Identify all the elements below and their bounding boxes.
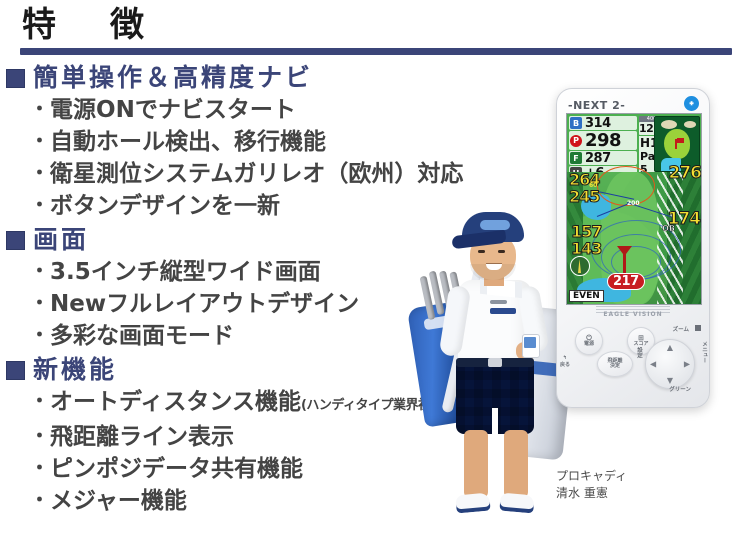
page-title: 特 徴 [22,4,154,46]
bunker-icon [684,121,696,128]
bullet-dot-icon: ・ [30,457,49,479]
feature-page: 特 徴 簡単操作＆高精度ナビ ・電源ONでナビスタート ・自動ホール検出、移行機… [0,0,750,540]
cap-logo [480,220,510,230]
settings-label[interactable]: 設定 [635,347,643,358]
list-item: ・Newフルレイアウトデザイン [30,288,470,320]
person-eye-left [478,250,485,253]
menu-label[interactable]: メニュー [700,341,708,363]
power-button-label: 電源 [584,342,594,348]
distance-row-back: B 314 [569,116,637,130]
target-ring [597,166,655,206]
bluetooth-icon: ᛭ [684,96,699,111]
bullet-dot-icon: ・ [30,390,49,412]
shirt-logo [490,308,516,314]
list-item-label: 自動ホール検出、移行機能 [50,129,326,155]
gps-device: -NEXT 2- ᛭ B 314 P 298 F 287 [556,88,710,408]
bullet-dot-icon: ・ [30,162,49,184]
section-heading: 簡単操作＆高精度ナビ [6,64,470,92]
green-label[interactable]: グリーン [669,385,691,393]
list-item: ・ボタンデザインを一新 [30,190,470,222]
dpad-right-icon[interactable]: ▶ [684,360,690,369]
list-item-label: ピンポジデータ共有機能 [50,456,303,482]
list-item-label: 3.5インチ縦型ワイド画面 [50,259,321,285]
person-eye-right [498,250,505,253]
list-item: ・メジャー機能 [30,485,470,517]
list-item: ・ピンポジデータ共有機能 [30,453,470,485]
back-button[interactable]: ↰ 戻る [560,355,570,368]
device-screen[interactable]: B 314 P 298 F 287 H +6 [566,113,702,305]
bullet-dot-icon: ・ [30,324,49,346]
list-item: ・電源ONでナビスタート [30,94,470,126]
distance-value-pin: 298 [585,130,621,151]
shorts-gap [492,408,498,434]
green-shape [664,129,690,159]
section-easy-operation: 簡単操作＆高精度ナビ ・電源ONでナビスタート ・自動ホール検出、移行機能 ・衛… [0,64,470,222]
caddie-photo [418,212,568,530]
list-item-label: ボタンデザインを一新 [50,193,280,219]
ob-label: OB [662,224,675,233]
feature-sections: 簡単操作＆高精度ナビ ・電源ONでナビスタート ・自動ホール検出、移行機能 ・衛… [0,64,470,521]
dpad-left-icon[interactable]: ◀ [650,360,656,369]
zoom-label[interactable]: ズーム [673,325,689,333]
person-shoe-left [455,493,490,514]
dpad-down-icon[interactable]: ▼ [667,376,673,385]
section-new-features: 新機能 ・オートディスタンス機能(ハンディタイプ業界初) ・飛距離ライン表示 ・… [0,356,470,517]
front-tag-icon: F [570,152,582,164]
bullet-dot-icon: ・ [30,130,49,152]
list-item-note: (ハンディタイプ業界初) [301,398,436,413]
distance-row-pin: P 298 [569,131,637,150]
square-bullet-icon [6,69,25,88]
list-item: ・衛星測位システムガリレオ（欧州）対応 [30,158,470,190]
belt-buckle [488,358,502,367]
caddie-name: 清水 重憲 [556,485,627,502]
section-title: 簡単操作＆高精度ナビ [33,64,313,92]
title-underline [20,48,732,55]
device-model-label: -NEXT 2- [568,99,625,112]
marker-200-label: 200 [627,200,640,207]
brand-label: EAGLE VISION [557,311,709,318]
square-bullet-icon [6,361,25,380]
map-distance-245: 245 [569,189,599,204]
distance-enter-button[interactable]: 飛距離 決定 [597,351,633,377]
person-leg-left [464,430,488,498]
marker-60-label: 60 [589,182,597,189]
person-shoe-right [499,493,534,514]
bullet-dot-icon: ・ [30,98,49,120]
score-badge: EVEN [569,290,604,302]
bullet-list: ・電源ONでナビスタート ・自動ホール検出、移行機能 ・衛星測位システムガリレオ… [0,94,470,222]
list-item-label: 電源ONでナビスタート [50,97,296,123]
distance-value-back: 314 [585,116,611,131]
section-display: 画面 ・3.5インチ縦型ワイド画面 ・Newフルレイアウトデザイン ・多彩な画面… [0,226,470,352]
list-item: ・多彩な画面モード [30,320,470,352]
bullet-list: ・オートディスタンス機能(ハンディタイプ業界初) ・飛距離ライン表示 ・ピンポジ… [0,386,470,517]
caddie-caption: プロキャディ 清水 重憲 [556,468,627,502]
shirt-logo-small [490,300,507,304]
list-item: ・飛距離ライン表示 [30,421,470,453]
list-item-label: 多彩な画面モード [50,323,234,349]
square-bullet-icon [6,231,25,250]
bullet-dot-icon: ・ [30,425,49,447]
device-top-bezel: -NEXT 2- ᛭ [557,93,709,113]
list-item-label: Newフルレイアウトデザイン [50,291,359,317]
handheld-device-screen [524,337,536,348]
list-item: ・自動ホール検出、移行機能 [30,126,470,158]
bullet-dot-icon: ・ [30,260,49,282]
section-title: 画面 [33,226,89,254]
indicator-square-icon [695,325,701,331]
list-item: ・オートディスタンス機能(ハンディタイプ業界初) [30,386,470,421]
section-heading: 新機能 [6,356,470,384]
bunker-icon [661,120,677,129]
map-distance-276: 276 [669,166,702,181]
list-item: ・3.5インチ縦型ワイド画面 [30,256,470,288]
power-button[interactable]: ⏻ 電源 [575,327,603,355]
back-button-label: 戻る [560,361,570,368]
bullet-dot-icon: ・ [30,489,49,511]
bullet-dot-icon: ・ [30,292,49,314]
current-distance-bubble: 217 [607,273,645,290]
course-map[interactable]: 264 245 157 143 276 174 OB 200 60 217 EV… [567,172,701,304]
distance-row-front: F 287 [569,151,637,165]
distance-value-front: 287 [585,151,611,166]
dpad-up-icon[interactable]: ▲ [667,343,673,352]
bullet-list: ・3.5インチ縦型ワイド画面 ・Newフルレイアウトデザイン ・多彩な画面モード [0,256,470,352]
section-title: 新機能 [33,356,117,384]
bullet-dot-icon: ・ [30,194,49,216]
map-distance-143: 143 [571,241,601,256]
map-distance-157: 157 [571,224,601,239]
distance-button-label: 決定 [610,364,620,370]
list-item-label: オートディスタンス機能 [50,389,301,415]
back-tag-icon: B [570,117,582,129]
list-item-label: メジャー機能 [50,488,187,514]
pin-tag-icon: P [570,135,582,147]
dpad-control[interactable]: ▲ ▼ ◀ ▶ [645,339,695,389]
person-leg-right [504,430,528,498]
caddie-role: プロキャディ [556,468,627,485]
list-item-label: 衛星測位システムガリレオ（欧州）対応 [50,161,463,187]
list-item-label: 飛距離ライン表示 [50,424,234,450]
pin-flag-icon [677,138,684,143]
compass-icon [570,256,590,276]
section-heading: 画面 [6,226,470,254]
